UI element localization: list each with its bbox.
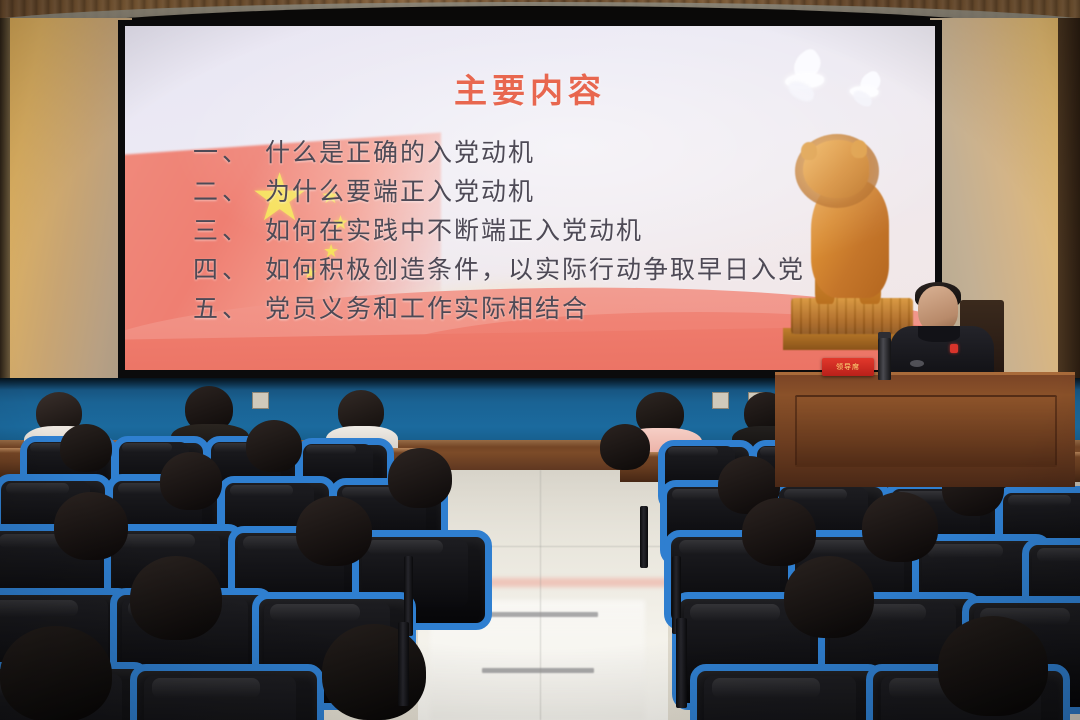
slide-item-text: 什么是正确的入党动机 xyxy=(265,140,535,167)
slide-item-text: 为什么要端正入党动机 xyxy=(265,179,535,206)
right-wall-edge xyxy=(1058,18,1080,380)
left-wall-panel xyxy=(0,18,132,380)
auditorium-scene: ★ ★ ★ ★ ★ 主要内容 一、什么是正 xyxy=(0,0,1080,720)
reflection-mark xyxy=(482,668,594,673)
projected-slide: ★ ★ ★ ★ ★ 主要内容 一、什么是正 xyxy=(125,26,935,370)
slide-item-text: 如何在实践中不断端正入党动机 xyxy=(265,218,643,245)
slide-item-text: 如何积极创造条件，以实际行动争取早日入党 xyxy=(265,257,805,284)
wall-outlet xyxy=(252,392,269,409)
slide-item-number: 二、 xyxy=(193,179,251,206)
presenter xyxy=(888,282,1008,382)
slide-list-item: 四、如何积极创造条件，以实际行动争取早日入党 xyxy=(193,251,935,290)
jacket-logo xyxy=(910,360,924,367)
slide-content-list: 一、什么是正确的入党动机 二、为什么要端正入党动机 三、如何在实践中不断端正入党… xyxy=(153,134,935,329)
reflection-mark xyxy=(478,612,598,617)
auditorium-seat[interactable] xyxy=(130,664,310,720)
presenter-collar xyxy=(918,326,960,342)
wall-outlet xyxy=(712,392,729,409)
tile-line xyxy=(540,470,541,720)
party-badge-icon xyxy=(950,344,958,353)
slide-list-item: 一、什么是正确的入党动机 xyxy=(193,134,935,173)
seat-leg xyxy=(676,618,687,708)
thermos xyxy=(878,338,891,380)
podium xyxy=(775,372,1075,487)
slide-item-text: 党员义务和工作实际相结合 xyxy=(265,296,589,323)
slide-item-number: 三、 xyxy=(193,218,251,245)
slide-title: 主要内容 xyxy=(125,64,935,112)
slide-item-number: 四、 xyxy=(193,257,251,284)
auditorium-seat[interactable] xyxy=(690,664,870,720)
left-wall-edge xyxy=(0,18,10,380)
slide-list-item: 三、如何在实践中不断端正入党动机 xyxy=(193,212,935,251)
seat-leg xyxy=(398,622,409,706)
seat-leg xyxy=(640,506,648,568)
podium-panel xyxy=(795,395,1057,467)
name-plate: 领导席 xyxy=(822,358,874,376)
slide-list-item: 二、为什么要端正入党动机 xyxy=(193,173,935,212)
slide-item-number: 一、 xyxy=(193,140,251,167)
name-plate-text: 领导席 xyxy=(822,358,874,376)
slide-item-number: 五、 xyxy=(193,296,251,323)
slide-list-item: 五、党员义务和工作实际相结合 xyxy=(193,290,935,329)
